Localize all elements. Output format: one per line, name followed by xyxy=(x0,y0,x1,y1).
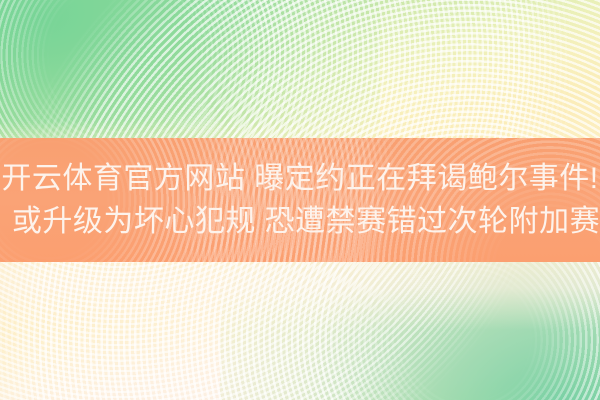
headline-line-1: 开云体育官方网站 曝定约正在拜谒鲍尔事件! xyxy=(1,157,598,200)
orange-headline-banner: 开云体育官方网站 曝定约正在拜谒鲍尔事件! 或升级为坏心犯规 恐遭禁赛错过次轮附… xyxy=(0,138,600,262)
image-canvas: 开云体育官方网站 曝定约正在拜谒鲍尔事件! 或升级为坏心犯规 恐遭禁赛错过次轮附… xyxy=(0,0,600,400)
headline-line-2: 或升级为坏心犯规 恐遭禁赛错过次轮附加赛 xyxy=(12,200,600,243)
